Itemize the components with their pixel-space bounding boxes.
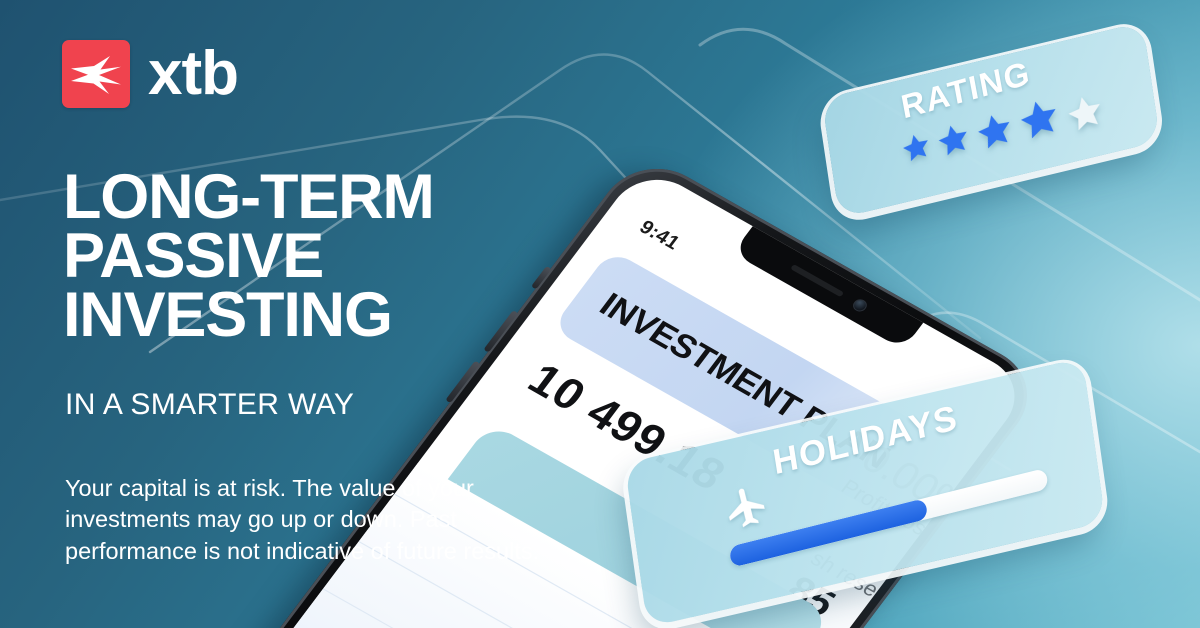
star-filled-icon[interactable] xyxy=(899,128,934,166)
star-filled-icon[interactable] xyxy=(1015,92,1064,146)
headline-line-1: LONG-TERM xyxy=(63,168,434,227)
risk-disclaimer: Your capital is at risk. The value of yo… xyxy=(65,473,595,567)
holidays-card-label: HOLIDAYS xyxy=(770,398,961,484)
airplane-icon xyxy=(719,476,774,535)
xtb-x-mark-icon xyxy=(62,40,130,108)
hero-text-column: xtb LONG-TERM PASSIVE INVESTING IN A SMA… xyxy=(62,0,702,628)
earpiece-speaker-icon xyxy=(790,264,844,297)
star-filled-icon[interactable] xyxy=(934,118,974,161)
rating-card[interactable]: RATING xyxy=(822,22,1161,218)
promo-banner: 9:41 INVESTMENT PLAN 10 499.18 0.00% Pro… xyxy=(0,0,1200,628)
front-camera-icon xyxy=(850,296,869,313)
brand-wordmark: xtb xyxy=(148,43,238,105)
star-empty-icon[interactable] xyxy=(1063,89,1108,137)
star-filled-icon[interactable] xyxy=(972,107,1017,155)
page-subtitle: IN A SMARTER WAY xyxy=(65,388,354,422)
phone-notch xyxy=(732,225,924,350)
page-title: LONG-TERM PASSIVE INVESTING xyxy=(63,168,434,346)
brand-logo[interactable]: xtb xyxy=(62,40,238,108)
headline-line-2: PASSIVE xyxy=(63,227,434,286)
headline-line-3: INVESTING xyxy=(63,286,434,345)
